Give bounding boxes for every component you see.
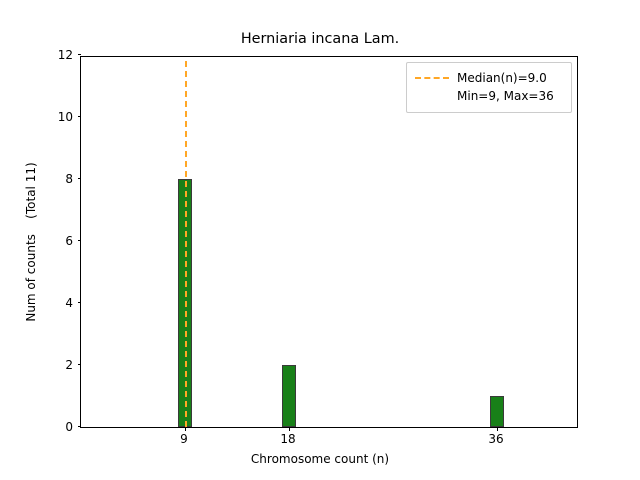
y-tick-mark	[78, 240, 82, 241]
y-tick-label: 10	[58, 110, 73, 124]
bar	[490, 396, 504, 427]
legend-label-minmax: Min=9, Max=36	[457, 89, 554, 103]
y-tick-label: 8	[65, 172, 73, 186]
y-tick-mark	[78, 364, 82, 365]
chart-figure: Herniaria incana Lam. Chromosome count (…	[0, 0, 640, 480]
y-tick-label: 4	[65, 296, 73, 310]
bar	[282, 365, 296, 427]
x-axis-label: Chromosome count (n)	[0, 452, 640, 466]
y-tick-mark	[78, 116, 82, 117]
x-tick-label: 9	[180, 432, 188, 446]
y-tick-mark	[78, 302, 82, 303]
legend-item-minmax: Min=9, Max=36	[415, 87, 563, 105]
legend: Median(n)=9.0 Min=9, Max=36	[406, 62, 572, 113]
x-tick-mark	[289, 427, 290, 431]
x-tick-mark	[497, 427, 498, 431]
x-tick-label: 36	[488, 432, 503, 446]
x-tick-mark	[185, 427, 186, 431]
y-tick-label: 12	[58, 48, 73, 62]
median-line	[185, 61, 187, 427]
y-tick-mark	[78, 54, 82, 55]
chart-title: Herniaria incana Lam.	[0, 31, 640, 47]
y-axis-label: Num of counts (Total 11)	[24, 56, 38, 428]
legend-item-median: Median(n)=9.0	[415, 69, 563, 87]
y-tick-label: 2	[65, 358, 73, 372]
y-tick-label: 0	[65, 420, 73, 434]
legend-label-median: Median(n)=9.0	[457, 71, 547, 85]
x-tick-label: 18	[280, 432, 295, 446]
y-tick-mark	[78, 178, 82, 179]
dashed-line-icon	[415, 77, 449, 79]
y-tick-mark	[78, 426, 82, 427]
y-tick-label: 6	[65, 234, 73, 248]
